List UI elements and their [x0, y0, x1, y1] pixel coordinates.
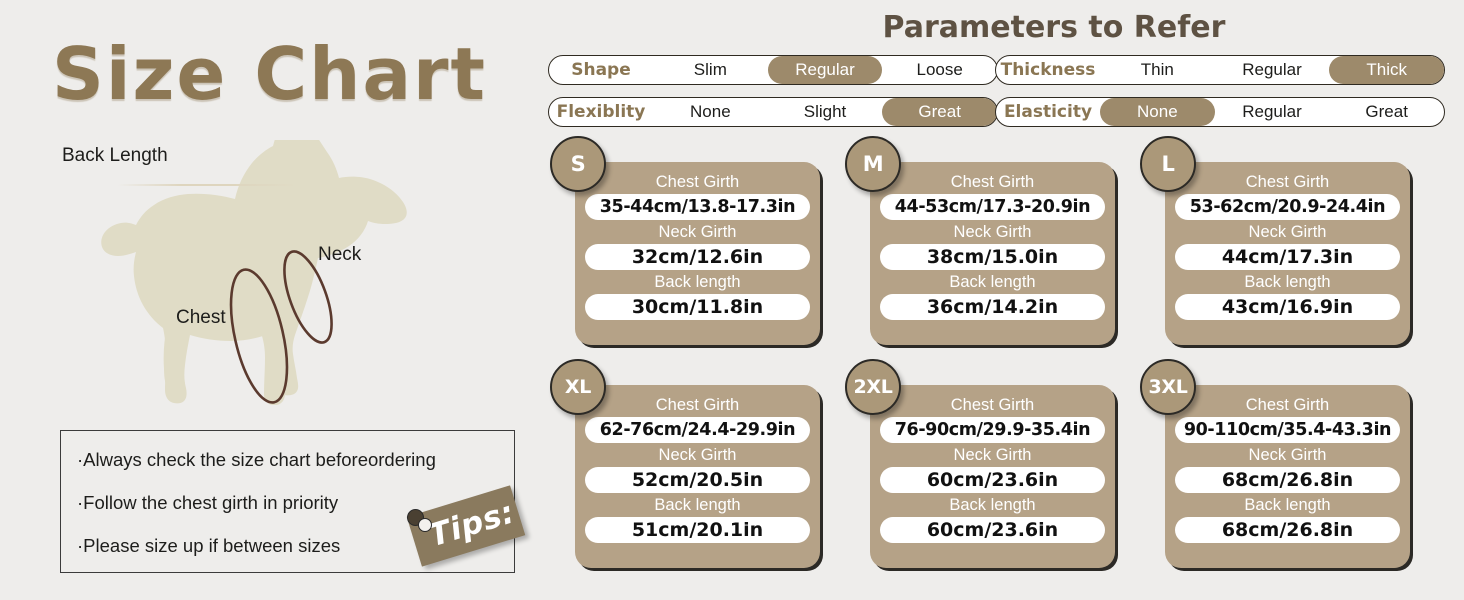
size-card-l[interactable]: L Chest Girth 53-62cm/20.9-24.4in Neck G…	[1165, 162, 1410, 345]
chest-girth-label: Chest Girth	[1175, 173, 1400, 192]
size-badge: M	[845, 136, 901, 192]
parameter-options: Slim Regular Loose	[653, 56, 997, 84]
back-length-value: 36cm/14.2in	[880, 294, 1105, 320]
dog-diagram	[95, 140, 435, 405]
parameter-options: Thin Regular Thick	[1100, 56, 1444, 84]
right-panel: Parameters to Refer Shape Slim Regular L…	[540, 0, 1464, 600]
size-badge: 3XL	[1140, 359, 1196, 415]
parameter-label: Thickness	[996, 60, 1100, 80]
back-length-value: 30cm/11.8in	[585, 294, 810, 320]
parameter-row-thickness[interactable]: Thickness Thin Regular Thick	[995, 55, 1445, 85]
chest-girth-label: Chest Girth	[880, 396, 1105, 415]
parameter-label: Elasticity	[996, 102, 1100, 122]
parameter-option[interactable]: None	[653, 98, 768, 126]
chest-girth-value: 44-53cm/17.3-20.9in	[880, 194, 1105, 220]
back-length-label: Back Length	[62, 145, 168, 167]
chest-label: Chest	[176, 307, 226, 329]
size-card-s[interactable]: S Chest Girth 35-44cm/13.8-17.3in Neck G…	[575, 162, 820, 345]
size-badge: S	[550, 136, 606, 192]
chest-girth-label: Chest Girth	[585, 396, 810, 415]
neck-girth-label: Neck Girth	[880, 223, 1105, 242]
back-length-guide-line	[118, 184, 298, 186]
parameter-options: None Regular Great	[1100, 98, 1444, 126]
parameters-title-text: Parameters to Refer	[883, 10, 1226, 45]
chest-girth-value: 53-62cm/20.9-24.4in	[1175, 194, 1400, 220]
neck-girth-label: Neck Girth	[1175, 446, 1400, 465]
back-length-label: Back length	[880, 496, 1105, 515]
neck-girth-value: 60cm/23.6in	[880, 467, 1105, 493]
neck-label: Neck	[318, 244, 361, 266]
list-item: ·Always check the size chart beforeorder…	[77, 449, 436, 471]
back-length-label: Back length	[880, 273, 1105, 292]
list-item: ·Please size up if between sizes	[77, 535, 436, 557]
size-badge: 2XL	[845, 359, 901, 415]
parameter-option[interactable]: Loose	[882, 56, 997, 84]
neck-girth-value: 44cm/17.3in	[1175, 244, 1400, 270]
neck-girth-label: Neck Girth	[585, 446, 810, 465]
size-card-2xl[interactable]: 2XL Chest Girth 76-90cm/29.9-35.4in Neck…	[870, 385, 1115, 568]
chest-girth-value: 76-90cm/29.9-35.4in	[880, 417, 1105, 443]
size-badge: L	[1140, 136, 1196, 192]
neck-girth-value: 38cm/15.0in	[880, 244, 1105, 270]
parameter-row-elasticity[interactable]: Elasticity None Regular Great	[995, 97, 1445, 127]
size-badge: XL	[550, 359, 606, 415]
tips-list: ·Always check the size chart beforeorder…	[77, 449, 436, 578]
parameter-option-selected[interactable]: Great	[882, 98, 997, 126]
parameter-row-flexiblity[interactable]: Flexiblity None Slight Great	[548, 97, 998, 127]
chest-girth-value: 35-44cm/13.8-17.3in	[585, 194, 810, 220]
back-length-value: 43cm/16.9in	[1175, 294, 1400, 320]
dog-silhouette-icon	[95, 140, 435, 405]
back-length-value: 68cm/26.8in	[1175, 517, 1400, 543]
neck-girth-label: Neck Girth	[585, 223, 810, 242]
chest-girth-value: 90-110cm/35.4-43.3in	[1175, 417, 1400, 443]
neck-girth-value: 52cm/20.5in	[585, 467, 810, 493]
size-card-3xl[interactable]: 3XL Chest Girth 90-110cm/35.4-43.3in Nec…	[1165, 385, 1410, 568]
parameter-row-shape[interactable]: Shape Slim Regular Loose	[548, 55, 998, 85]
back-length-label: Back length	[1175, 496, 1400, 515]
back-length-label: Back length	[585, 496, 810, 515]
chest-girth-label: Chest Girth	[1175, 396, 1400, 415]
parameter-option[interactable]: Regular	[1215, 98, 1330, 126]
parameter-label: Shape	[549, 60, 653, 80]
parameter-option[interactable]: Slight	[768, 98, 883, 126]
neck-girth-label: Neck Girth	[880, 446, 1105, 465]
back-length-label: Back length	[585, 273, 810, 292]
page-title: Size Chart	[52, 32, 487, 116]
parameter-options: None Slight Great	[653, 98, 997, 126]
neck-girth-label: Neck Girth	[1175, 223, 1400, 242]
neck-girth-value: 32cm/12.6in	[585, 244, 810, 270]
left-panel: Size Chart Back Length Neck Chest ·Alway…	[0, 0, 540, 600]
parameter-option[interactable]: Great	[1329, 98, 1444, 126]
parameter-label: Flexiblity	[549, 102, 653, 122]
chest-girth-label: Chest Girth	[585, 173, 810, 192]
chest-girth-value: 62-76cm/24.4-29.9in	[585, 417, 810, 443]
parameter-option[interactable]: Regular	[1215, 56, 1330, 84]
parameter-option-selected[interactable]: Regular	[768, 56, 883, 84]
parameter-option-selected[interactable]: Thick	[1329, 56, 1444, 84]
back-length-value: 51cm/20.1in	[585, 517, 810, 543]
chest-girth-label: Chest Girth	[880, 173, 1105, 192]
size-card-m[interactable]: M Chest Girth 44-53cm/17.3-20.9in Neck G…	[870, 162, 1115, 345]
back-length-value: 60cm/23.6in	[880, 517, 1105, 543]
size-chart-page: Size Chart Back Length Neck Chest ·Alway…	[0, 0, 1464, 600]
size-card-xl[interactable]: XL Chest Girth 62-76cm/24.4-29.9in Neck …	[575, 385, 820, 568]
parameter-option[interactable]: Slim	[653, 56, 768, 84]
clip-light-icon	[418, 518, 432, 532]
parameter-option-selected[interactable]: None	[1100, 98, 1215, 126]
parameter-option[interactable]: Thin	[1100, 56, 1215, 84]
list-item: ·Follow the chest girth in priority	[77, 492, 436, 514]
back-length-label: Back length	[1175, 273, 1400, 292]
neck-girth-value: 68cm/26.8in	[1175, 467, 1400, 493]
parameters-title: Parameters to Refer	[540, 10, 1464, 45]
